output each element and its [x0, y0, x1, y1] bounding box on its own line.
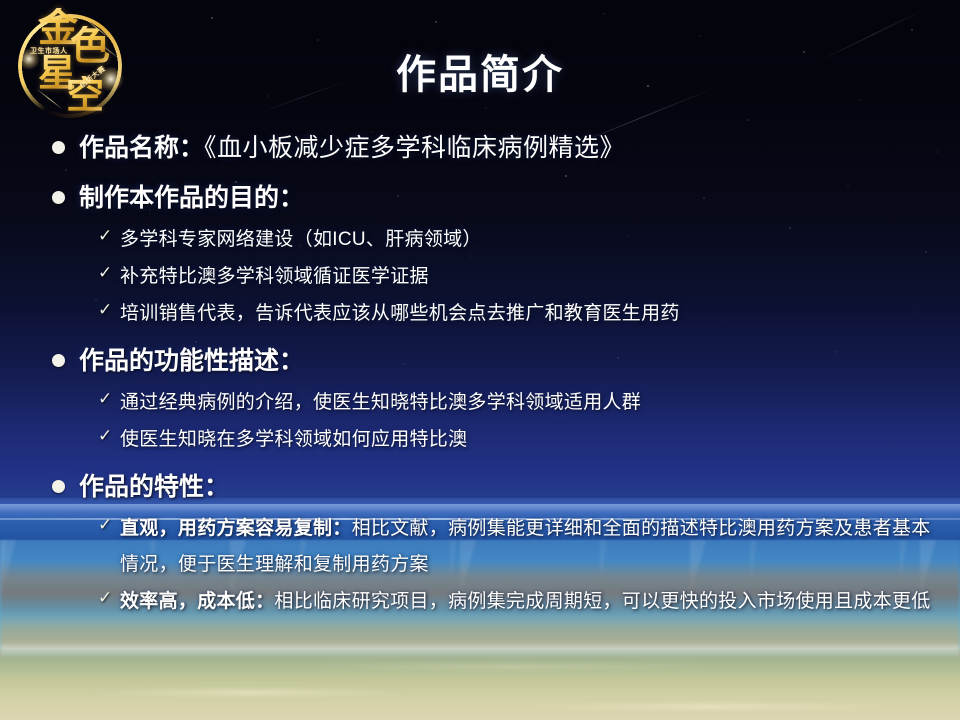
list-item-body: 相比临床研究项目，病例集完成周期短，可以更快的投入市场使用且成本更低: [274, 591, 930, 612]
surf-foam-line: [0, 642, 960, 658]
sand-streak: [520, 704, 900, 709]
list-item-text: 效率高，成本低：相比临床研究项目，病例集完成周期短，可以更快的投入市场使用且成本…: [120, 584, 931, 620]
list-item-text: 培训销售代表，告诉代表应该从哪些机会点去推广和教育医生用药: [120, 296, 680, 332]
bullet-dot-icon: [52, 354, 65, 367]
sand-streak: [300, 664, 720, 669]
checkmark-icon: ✓: [98, 427, 120, 444]
checkmark-icon: ✓: [98, 264, 120, 281]
section-heading-functional-description: 作品的功能性描述：: [0, 339, 960, 383]
list-item-lead: 直观，用药方案容易复制：: [120, 518, 352, 539]
section-heading-text: 制作本作品的目的：: [79, 176, 304, 220]
section-heading-purpose: 制作本作品的目的：: [0, 176, 960, 220]
checkmark-icon: ✓: [98, 227, 120, 244]
list-item: ✓ 培训销售代表，告诉代表应该从哪些机会点去推广和教育医生用药: [0, 296, 960, 332]
list-item: ✓ 通过经典病例的介绍，使医生知晓特比澳多学科领域适用人群: [0, 385, 960, 421]
section-heading-characteristics: 作品的特性：: [0, 465, 960, 509]
checkmark-icon: ✓: [98, 516, 120, 533]
list-item-text: 多学科专家网络建设（如ICU、肝病领域）: [120, 222, 482, 258]
checkmark-icon: ✓: [98, 589, 120, 606]
section-heading-work-name: 作品名称：《血小板减少症多学科临床病例精选》: [0, 126, 960, 170]
sand-streak: [90, 690, 410, 695]
list-item: ✓ 直观，用药方案容易复制：相比文献，病例集能更详细和全面的描述特比澳用药方案及…: [0, 511, 960, 583]
slide-canvas: 金 色 星 空 卫生市场人 创新大赛 作品简介 作品名称：《血小板减少症多学科临…: [0, 0, 960, 720]
list-item-lead: 效率高，成本低：: [120, 591, 274, 612]
checkmark-icon: ✓: [98, 301, 120, 318]
checkmark-icon: ✓: [98, 390, 120, 407]
slide-body: 作品名称：《血小板减少症多学科临床病例精选》 制作本作品的目的： ✓ 多学科专家…: [0, 126, 960, 621]
work-name-value: 《血小板减少症多学科临床病例精选》: [204, 134, 625, 162]
bullet-dot-icon: [52, 141, 65, 154]
bullet-dot-icon: [52, 480, 65, 493]
section-heading-text: 作品的特性：: [79, 465, 229, 509]
slide-title: 作品简介: [0, 42, 960, 100]
list-item: ✓ 补充特比澳多学科领域循证医学证据: [0, 259, 960, 295]
work-name-label: 作品名称：: [79, 134, 204, 162]
list-item: ✓ 使医生知晓在多学科领域如何应用特比澳: [0, 422, 960, 458]
list-item-text: 通过经典病例的介绍，使医生知晓特比澳多学科领域适用人群: [120, 385, 641, 421]
list-item-text: 直观，用药方案容易复制：相比文献，病例集能更详细和全面的描述特比澳用药方案及患者…: [120, 511, 938, 583]
list-item-text: 使医生知晓在多学科领域如何应用特比澳: [120, 422, 467, 458]
list-item-text: 补充特比澳多学科领域循证医学证据: [120, 259, 429, 295]
section-heading-text: 作品的功能性描述：: [79, 339, 304, 383]
section-heading-text: 作品名称：《血小板减少症多学科临床病例精选》: [79, 126, 625, 170]
list-item: ✓ 效率高，成本低：相比临床研究项目，病例集完成周期短，可以更快的投入市场使用且…: [0, 584, 960, 620]
bullet-dot-icon: [52, 191, 65, 204]
list-item: ✓ 多学科专家网络建设（如ICU、肝病领域）: [0, 222, 960, 258]
dry-sand-band: [0, 650, 960, 720]
